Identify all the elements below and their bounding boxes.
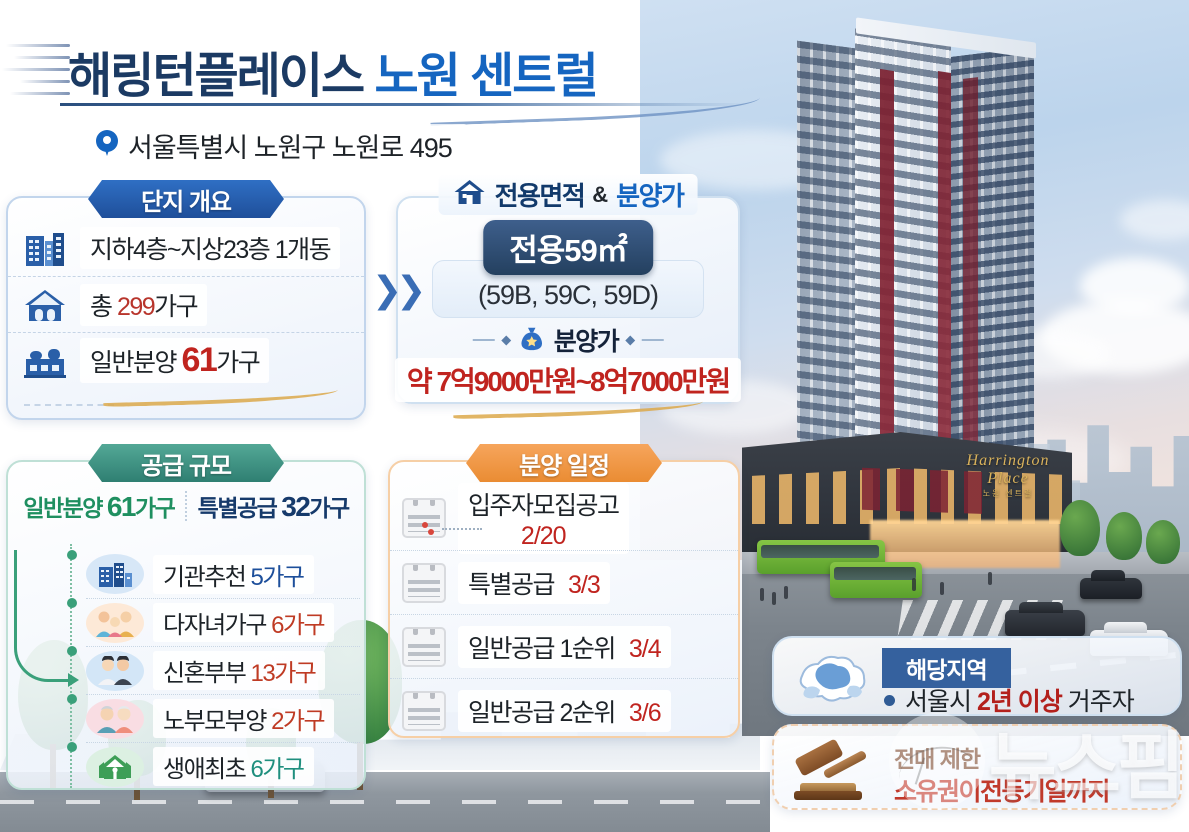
overview-panel: 단지 개요 (6, 196, 366, 420)
page-title-primary: 해링턴플레이스 (68, 50, 363, 103)
schedule-name: 일반공급 1순위 (468, 629, 615, 665)
decorative-speed-lines (0, 40, 70, 100)
region-requirement-text: 서울시 2년 이상 거주자 (905, 682, 1134, 718)
schedule-box: 특별공급 3/3 (458, 562, 610, 604)
area-price-header: 전용면적 & 분양가 (439, 174, 698, 215)
schedule-name: 일반공급 2순위 (468, 693, 615, 729)
schedule-name: 입주자모집공고 (468, 486, 619, 522)
divider (185, 491, 187, 521)
price-label-text: 분양가 (554, 322, 619, 358)
schedule-row: 입주자모집공고 2/20 (390, 486, 738, 550)
schedule-box: 일반공급 2순위 3/6 (458, 690, 671, 732)
area-pill: 전용59㎡ (483, 220, 653, 275)
money-bag-icon (518, 324, 546, 357)
supply-row-label: 다자녀가구 6가구 (153, 603, 334, 642)
area-price-panel: 전용면적 & 분양가 (59B, 59C, 59D) 전용59㎡ 분양가 약 7… (396, 196, 740, 404)
divider (641, 339, 663, 341)
supply-timeline (70, 544, 72, 788)
restriction-title: 전매 제한 (894, 740, 980, 774)
first-home-icon (86, 747, 144, 787)
calendar-icon (402, 627, 446, 667)
supply-row: 기관추천 5가구 (86, 550, 360, 598)
overview-row: 일반분양 61가구 (8, 332, 364, 388)
supply-row-count: 13가구 (251, 660, 316, 687)
overview-general-supply-text: 일반분양 61가구 (80, 338, 269, 383)
house-outline-icon (453, 177, 487, 212)
supply-ribbon: 공급 규모 (88, 444, 284, 482)
schedule-panel: 분양 일정 입주자모집공고 2/20 특별공급 3/3 (388, 460, 740, 738)
supply-row: 다자녀가구 6가구 (86, 598, 360, 646)
double-chevron-right-icon: ❯❯ (372, 272, 420, 308)
area-types-text: (59B, 59C, 59D) (478, 280, 658, 311)
schedule-row: 일반공급 1순위 3/4 (390, 614, 738, 678)
region-requirement-emphasis: 2년 이상 (977, 688, 1062, 716)
special-supply-count: 32 (281, 491, 309, 522)
calendar-icon (402, 498, 446, 538)
elderly-parents-icon (86, 699, 144, 739)
calendar-icon (402, 563, 446, 603)
schedule-name: 특별공급 (468, 565, 554, 601)
bullet-icon (884, 695, 895, 706)
address-text: 서울특별시 노원구 노원로 495 (128, 126, 452, 165)
newlywed-couple-icon (86, 651, 144, 691)
price-label-row: 분양가 (473, 322, 664, 358)
supply-type-list: 기관추천 5가구 다자녀가구 6가구 (86, 550, 360, 790)
supply-row: 생애최초 6가구 (86, 742, 360, 790)
ampersand: & (592, 182, 608, 208)
supply-scale-panel: 공급 규모 일반분양 61가구 특별공급 32가구 (6, 460, 366, 790)
seoul-map-icon (792, 648, 878, 710)
overview-ribbon: 단지 개요 (88, 180, 284, 218)
calendar-icon (402, 691, 446, 731)
special-supply-summary: 특별공급 32가구 (198, 489, 349, 523)
low-rise-icon (22, 341, 68, 381)
overview-floors-text: 지하4층~지상23층 1개동 (80, 227, 340, 269)
overview-households-text: 총 299가구 (80, 284, 207, 326)
schedule-ribbon: 분양 일정 (466, 444, 662, 482)
schedule-date: 2/20 (521, 522, 566, 551)
supply-flow-arrow (14, 550, 70, 682)
overview-row: 총 299가구 (8, 276, 364, 332)
general-supply-count: 61 (107, 491, 135, 522)
supply-row: 노부모부양 2가구 (86, 694, 360, 742)
gold-swoosh-decoration (103, 385, 338, 407)
address-bar: 서울특별시 노원구 노원로 495 (92, 124, 468, 166)
general-supply-summary: 일반분양 61가구 (23, 489, 174, 523)
restriction-value: 소유권이전등기일까지 (894, 772, 1109, 808)
office-building-icon (86, 554, 144, 594)
region-requirement-row: 서울시 2년 이상 거주자 (884, 682, 1134, 718)
schedule-box: 입주자모집공고 2/20 (458, 483, 629, 554)
schedule-date: 3/6 (629, 699, 661, 728)
supply-row-label: 생애최초 6가구 (153, 747, 314, 786)
house-icon (22, 285, 68, 325)
buildings-icon (22, 228, 68, 268)
schedule-row: 특별공급 3/3 (390, 550, 738, 614)
divider (24, 404, 114, 406)
supply-row-count: 6가구 (251, 756, 304, 783)
divider-tick (625, 335, 635, 345)
location-pin-icon (96, 130, 118, 160)
price-value-text: 약 7억9000만원~8억7000만원 (395, 358, 741, 402)
divider (473, 339, 495, 341)
schedule-box: 일반공급 1순위 3/4 (458, 626, 671, 668)
supply-row-count: 2가구 (271, 708, 324, 735)
supply-summary-row: 일반분양 61가구 특별공급 32가구 (8, 482, 364, 526)
schedule-date: 3/3 (568, 571, 600, 600)
overview-general-supply-value: 61 (181, 341, 216, 379)
supply-row-label: 기관추천 5가구 (153, 555, 314, 594)
overview-households-value: 299 (117, 293, 154, 321)
schedule-row: 일반공급 2순위 3/6 (390, 678, 738, 742)
overview-row: 지하4층~지상23층 1개동 (8, 220, 364, 276)
supply-row-label: 노부모부양 2가구 (153, 699, 334, 738)
supply-row-label: 신혼부부 13가구 (153, 651, 325, 690)
schedule-date: 3/4 (629, 635, 661, 664)
supply-row-count: 6가구 (271, 612, 324, 639)
supply-row: 신혼부부 13가구 (86, 646, 360, 694)
divider-tick (501, 335, 511, 345)
family-icon (86, 603, 144, 643)
region-panel: 해당지역 서울시 2년 이상 거주자 (772, 636, 1182, 716)
gavel-icon (794, 744, 876, 796)
supply-row-count: 5가구 (251, 564, 304, 591)
leader-line (442, 528, 482, 530)
area-label: 전용면적 (495, 176, 585, 213)
price-header-label: 분양가 (616, 176, 683, 213)
resale-restriction-panel: 전매 제한 소유권이전등기일까지 (772, 724, 1182, 810)
